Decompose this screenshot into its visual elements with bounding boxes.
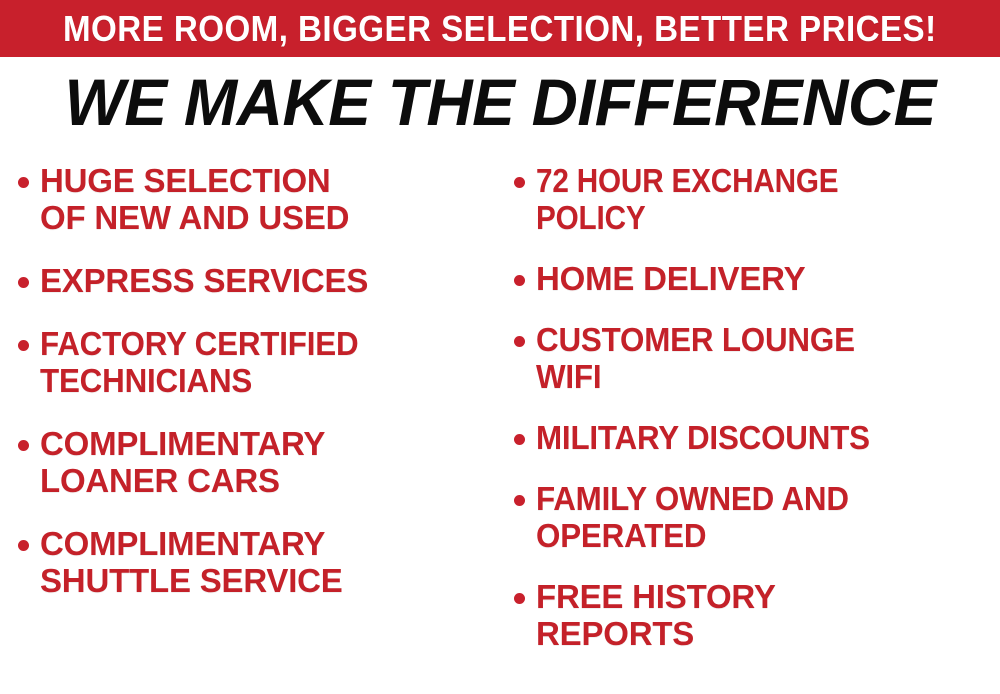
feature-label: CUSTOMER LOUNGE WIFI	[536, 321, 855, 395]
list-item: CUSTOMER LOUNGE WIFI	[514, 321, 1000, 395]
bullet-dot-icon	[18, 177, 29, 188]
bullet-dot-icon	[514, 434, 525, 445]
list-item: FREE HISTORY REPORTS	[514, 578, 1000, 652]
features-column-left: HUGE SELECTION OF NEW AND USED EXPRESS S…	[0, 152, 500, 625]
feature-label: COMPLIMENTARY SHUTTLE SERVICE	[40, 525, 343, 599]
list-item: EXPRESS SERVICES	[18, 262, 500, 299]
bullet-dot-icon	[514, 593, 525, 604]
bullet-dot-icon	[514, 275, 525, 286]
list-item: FACTORY CERTIFIED TECHNICIANS	[18, 325, 500, 399]
top-banner: MORE ROOM, BIGGER SELECTION, BETTER PRIC…	[0, 0, 1000, 57]
headline-container: WE MAKE THE DIFFERENCE	[0, 66, 1000, 138]
list-item: HUGE SELECTION OF NEW AND USED	[18, 162, 500, 236]
feature-label: HOME DELIVERY	[536, 260, 805, 297]
feature-label: FAMILY OWNED AND OPERATED	[536, 480, 849, 554]
feature-label: 72 HOUR EXCHANGE POLICY	[536, 162, 838, 236]
bullet-dot-icon	[18, 540, 29, 551]
list-item: 72 HOUR EXCHANGE POLICY	[514, 162, 1000, 236]
bullet-dot-icon	[18, 277, 29, 288]
list-item: MILITARY DISCOUNTS	[514, 419, 1000, 456]
page-title: WE MAKE THE DIFFERENCE	[64, 69, 935, 135]
feature-label: MILITARY DISCOUNTS	[536, 419, 870, 456]
bullet-dot-icon	[514, 495, 525, 506]
bullet-dot-icon	[18, 440, 29, 451]
list-item: COMPLIMENTARY SHUTTLE SERVICE	[18, 525, 500, 599]
feature-label: FREE HISTORY REPORTS	[536, 578, 776, 652]
bullet-dot-icon	[18, 340, 29, 351]
feature-label: HUGE SELECTION OF NEW AND USED	[40, 162, 349, 236]
feature-label: EXPRESS SERVICES	[40, 262, 368, 299]
list-item: HOME DELIVERY	[514, 260, 1000, 297]
top-banner-text: MORE ROOM, BIGGER SELECTION, BETTER PRIC…	[63, 11, 937, 47]
feature-label: COMPLIMENTARY LOANER CARS	[40, 425, 325, 499]
list-item: COMPLIMENTARY LOANER CARS	[18, 425, 500, 499]
features-column-right: 72 HOUR EXCHANGE POLICY HOME DELIVERY CU…	[500, 152, 1000, 676]
feature-label: FACTORY CERTIFIED TECHNICIANS	[40, 325, 358, 399]
promo-poster: MORE ROOM, BIGGER SELECTION, BETTER PRIC…	[0, 0, 1000, 694]
bullet-dot-icon	[514, 336, 525, 347]
features-columns: HUGE SELECTION OF NEW AND USED EXPRESS S…	[0, 152, 1000, 694]
list-item: FAMILY OWNED AND OPERATED	[514, 480, 1000, 554]
bullet-dot-icon	[514, 177, 525, 188]
